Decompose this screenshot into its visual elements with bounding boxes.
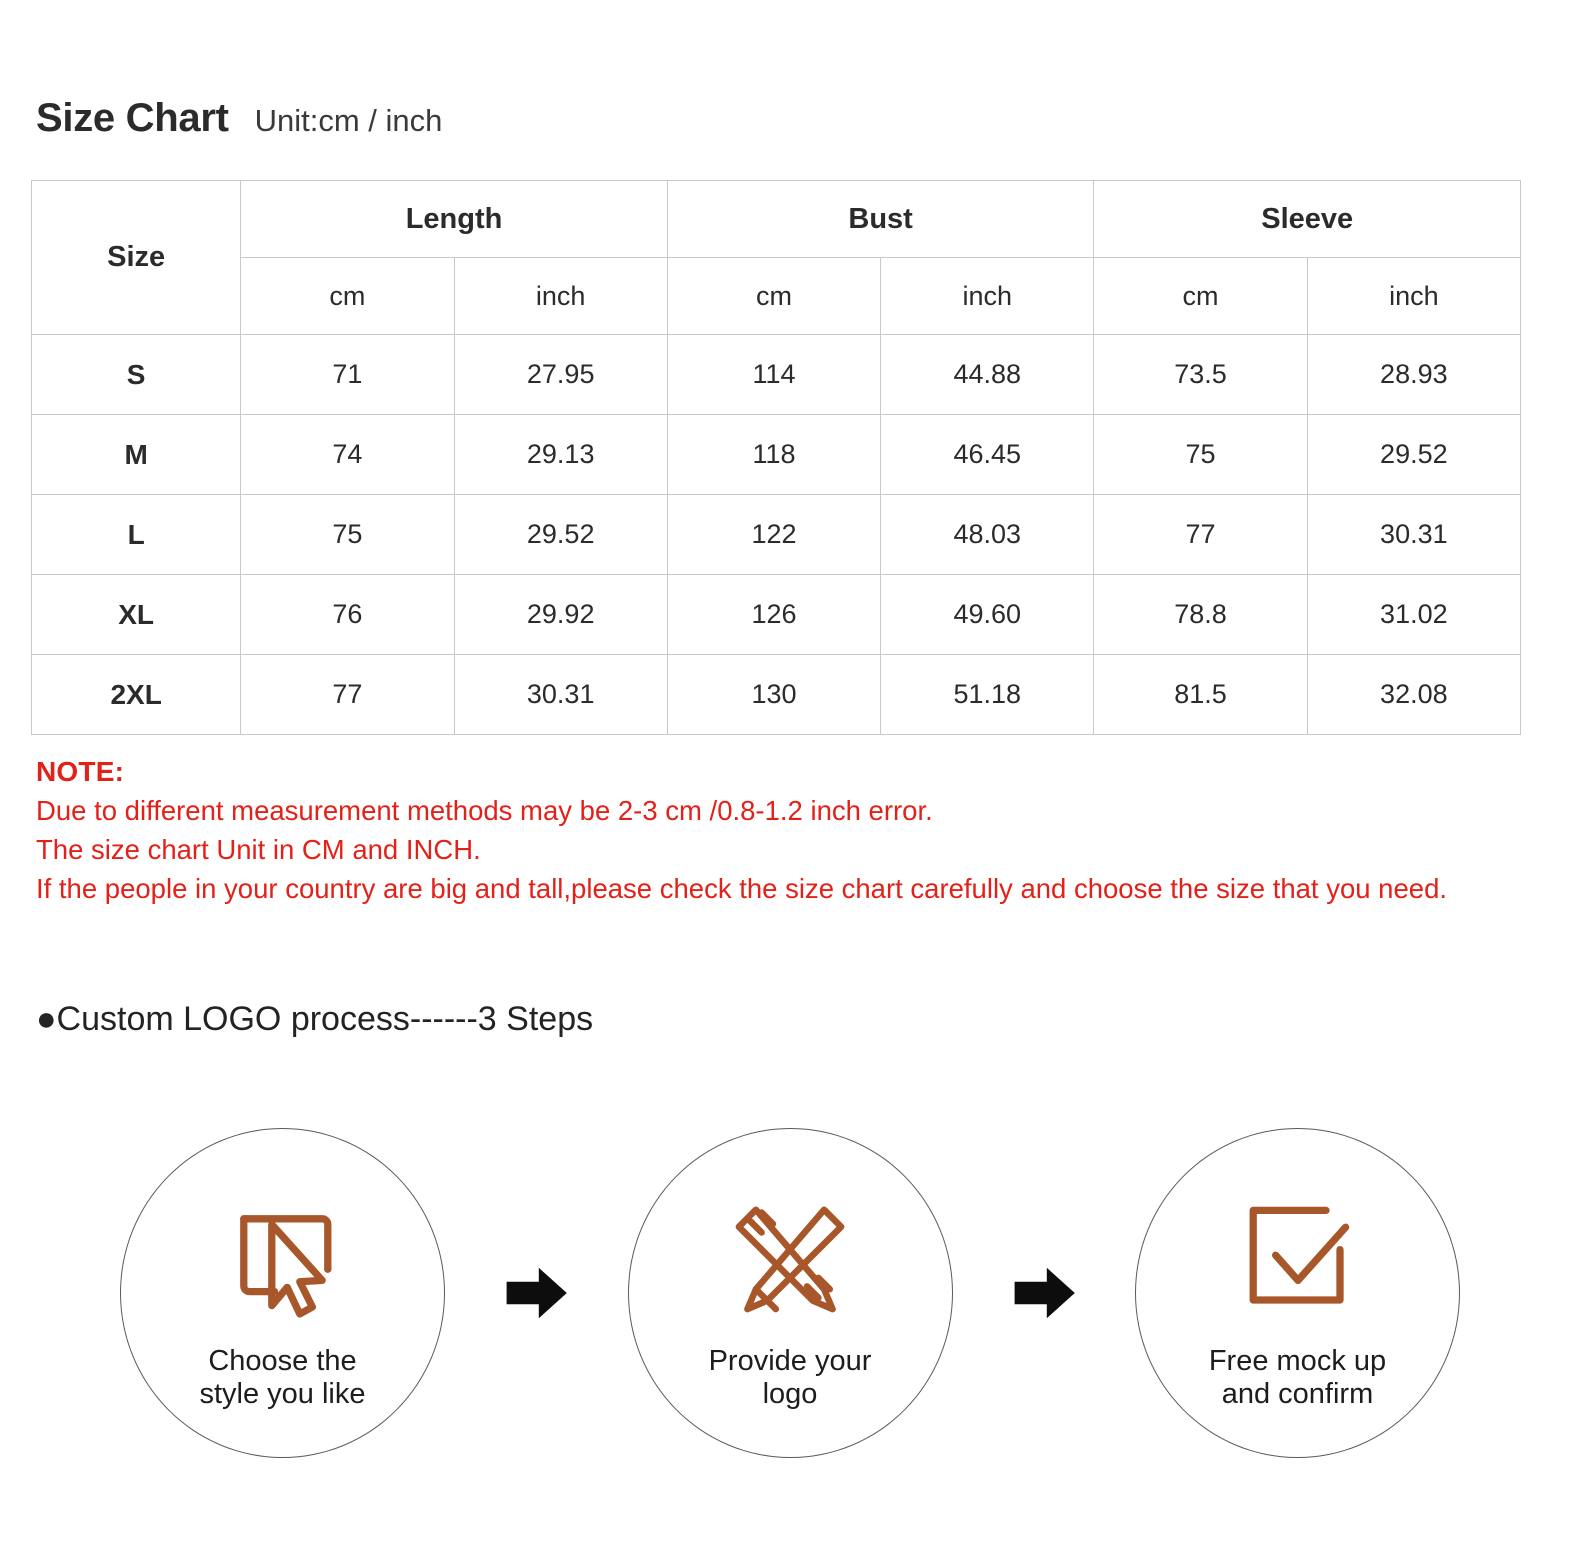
cell-sleeve-inch: 30.31 bbox=[1307, 495, 1520, 575]
table-row: XL 76 29.92 126 49.60 78.8 31.02 bbox=[32, 575, 1521, 655]
cell-length-cm: 77 bbox=[241, 655, 454, 735]
step-choose-style: Choose the style you like bbox=[120, 1128, 445, 1458]
table-row: S 71 27.95 114 44.88 73.5 28.93 bbox=[32, 335, 1521, 415]
cell-bust-cm: 122 bbox=[667, 495, 880, 575]
header-length: Length bbox=[241, 181, 668, 258]
cell-bust-cm: 118 bbox=[667, 415, 880, 495]
cell-sleeve-cm: 77 bbox=[1094, 495, 1307, 575]
cell-bust-inch: 51.18 bbox=[881, 655, 1094, 735]
cell-length-inch: 29.13 bbox=[454, 415, 667, 495]
header-bust-inch: inch bbox=[881, 258, 1094, 335]
cell-length-cm: 76 bbox=[241, 575, 454, 655]
note-line-1: Due to different measurement methods may… bbox=[36, 791, 1516, 830]
header-size: Size bbox=[32, 181, 241, 335]
arrow-right-icon bbox=[497, 1254, 575, 1332]
step-label: Provide your logo bbox=[691, 1345, 890, 1411]
cell-sleeve-cm: 78.8 bbox=[1094, 575, 1307, 655]
cell-size: S bbox=[32, 335, 241, 415]
header-sleeve-cm: cm bbox=[1094, 258, 1307, 335]
cell-sleeve-cm: 75 bbox=[1094, 415, 1307, 495]
checkbox-check-icon bbox=[1223, 1183, 1373, 1333]
cell-sleeve-inch: 32.08 bbox=[1307, 655, 1520, 735]
note-line-3: If the people in your country are big an… bbox=[36, 869, 1516, 908]
step-free-mockup: Free mock up and confirm bbox=[1135, 1128, 1460, 1458]
custom-logo-process-heading: ●Custom LOGO process------3 Steps bbox=[36, 1000, 593, 1039]
cell-length-inch: 29.52 bbox=[454, 495, 667, 575]
cell-sleeve-inch: 31.02 bbox=[1307, 575, 1520, 655]
size-chart-table: Size Length Bust Sleeve cm inch cm inch … bbox=[31, 180, 1521, 735]
pencil-ruler-icon bbox=[715, 1183, 865, 1333]
arrow-right-icon bbox=[1005, 1254, 1083, 1332]
cell-bust-cm: 126 bbox=[667, 575, 880, 655]
cell-length-cm: 71 bbox=[241, 335, 454, 415]
cell-sleeve-inch: 29.52 bbox=[1307, 415, 1520, 495]
cell-bust-inch: 49.60 bbox=[881, 575, 1094, 655]
header-sleeve-inch: inch bbox=[1307, 258, 1520, 335]
header-length-inch: inch bbox=[454, 258, 667, 335]
header-bust-cm: cm bbox=[667, 258, 880, 335]
header-length-cm: cm bbox=[241, 258, 454, 335]
step-label: Free mock up and confirm bbox=[1191, 1345, 1404, 1411]
cell-length-inch: 27.95 bbox=[454, 335, 667, 415]
cell-bust-cm: 130 bbox=[667, 655, 880, 735]
header-sleeve: Sleeve bbox=[1094, 181, 1521, 258]
note-block: NOTE: Due to different measurement metho… bbox=[36, 752, 1516, 908]
cell-bust-cm: 114 bbox=[667, 335, 880, 415]
cursor-select-icon bbox=[208, 1183, 358, 1333]
size-chart-page: Size Chart Unit:cm / inch Size Length Bu… bbox=[0, 0, 1575, 1555]
note-line-2: The size chart Unit in CM and INCH. bbox=[36, 830, 1516, 869]
cell-size: M bbox=[32, 415, 241, 495]
cell-length-inch: 30.31 bbox=[454, 655, 667, 735]
logo-process-steps: Choose the style you like bbox=[120, 1118, 1460, 1468]
cell-sleeve-cm: 81.5 bbox=[1094, 655, 1307, 735]
table-unit-header-row: cm inch cm inch cm inch bbox=[32, 258, 1521, 335]
page-title: Size Chart Unit:cm / inch bbox=[36, 96, 442, 141]
table-row: 2XL 77 30.31 130 51.18 81.5 32.08 bbox=[32, 655, 1521, 735]
cell-sleeve-cm: 73.5 bbox=[1094, 335, 1307, 415]
cell-size: L bbox=[32, 495, 241, 575]
cell-bust-inch: 46.45 bbox=[881, 415, 1094, 495]
header-bust: Bust bbox=[667, 181, 1094, 258]
page-title-text: Size Chart bbox=[36, 96, 229, 141]
cell-length-cm: 74 bbox=[241, 415, 454, 495]
table-row: L 75 29.52 122 48.03 77 30.31 bbox=[32, 495, 1521, 575]
cell-bust-inch: 44.88 bbox=[881, 335, 1094, 415]
unit-label: Unit:cm / inch bbox=[255, 103, 443, 139]
table-group-header-row: Size Length Bust Sleeve bbox=[32, 181, 1521, 258]
cell-bust-inch: 48.03 bbox=[881, 495, 1094, 575]
cell-length-cm: 75 bbox=[241, 495, 454, 575]
step-label: Choose the style you like bbox=[181, 1345, 383, 1411]
note-heading: NOTE: bbox=[36, 752, 1516, 791]
cell-length-inch: 29.92 bbox=[454, 575, 667, 655]
cell-sleeve-inch: 28.93 bbox=[1307, 335, 1520, 415]
cell-size: XL bbox=[32, 575, 241, 655]
table-row: M 74 29.13 118 46.45 75 29.52 bbox=[32, 415, 1521, 495]
step-provide-logo: Provide your logo bbox=[628, 1128, 953, 1458]
cell-size: 2XL bbox=[32, 655, 241, 735]
